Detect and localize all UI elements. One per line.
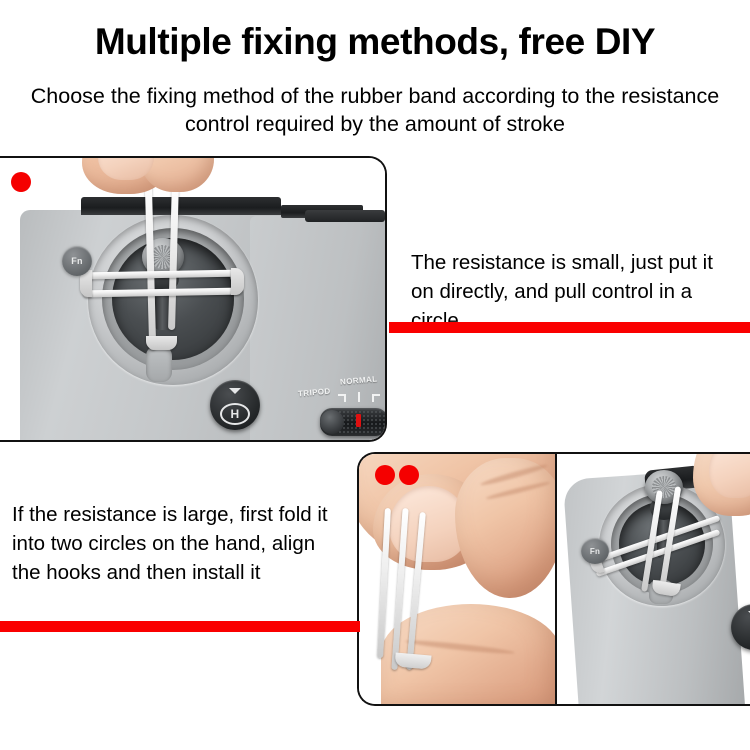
- photo-hand-folding-band: [359, 454, 555, 704]
- switch-position-indicator: [356, 414, 361, 427]
- return-home-button[interactable]: H: [210, 380, 260, 430]
- home-icon: H: [210, 380, 260, 430]
- controller-hinge-right: [305, 210, 385, 222]
- controller-top-strip: [81, 197, 281, 215]
- page-subtitle: Choose the fixing method of the rubber b…: [25, 82, 725, 138]
- switch-label-normal: NORMAL: [340, 374, 378, 386]
- switch-tick-right-down: [372, 394, 374, 402]
- page-root: Multiple fixing methods, free DIY Choose…: [0, 0, 750, 750]
- rubber-band-vertical-loop-end: [146, 336, 177, 350]
- marker-dot-method-one: [11, 172, 31, 192]
- photo-panel-method-two: Fn: [357, 452, 750, 706]
- fn-button-label-2: Fn: [590, 547, 600, 556]
- flight-mode-switch[interactable]: TRIPOD NORMAL SP: [294, 366, 385, 440]
- caption-method-two: If the resistance is large, first fold i…: [12, 500, 346, 587]
- return-home-button-2[interactable]: [731, 604, 750, 650]
- switch-tick-center: [358, 392, 360, 402]
- fn-button-2[interactable]: Fn: [581, 538, 609, 564]
- photo-controller-band-cross: Fn H TRIPOD NORMAL SP: [0, 158, 385, 440]
- switch-tick-left-down: [344, 394, 346, 402]
- page-title: Multiple fixing methods, free DIY: [0, 20, 750, 64]
- switch-nub[interactable]: [320, 410, 344, 434]
- home-letter: H: [220, 403, 250, 425]
- fn-button[interactable]: Fn: [62, 246, 92, 276]
- photo-controller-band-installed: Fn: [557, 454, 750, 704]
- rubber-band-hook-right: [231, 268, 244, 295]
- marker-dot-method-two-a: [375, 465, 395, 485]
- photo-panel-method-one: Fn H TRIPOD NORMAL SP: [0, 156, 387, 442]
- marker-dot-method-two-b: [399, 465, 419, 485]
- gimbal-cover-notch: [146, 346, 172, 382]
- home-icon-2: [731, 604, 750, 650]
- divider-bar-method-two: [0, 621, 360, 632]
- home-triangle-icon: [229, 388, 241, 394]
- header: Multiple fixing methods, free DIY Choose…: [0, 0, 750, 152]
- photo-divider: [555, 454, 557, 704]
- fn-button-label: Fn: [71, 256, 83, 266]
- divider-bar-method-one: [389, 322, 750, 333]
- switch-label-tripod: TRIPOD: [298, 387, 331, 399]
